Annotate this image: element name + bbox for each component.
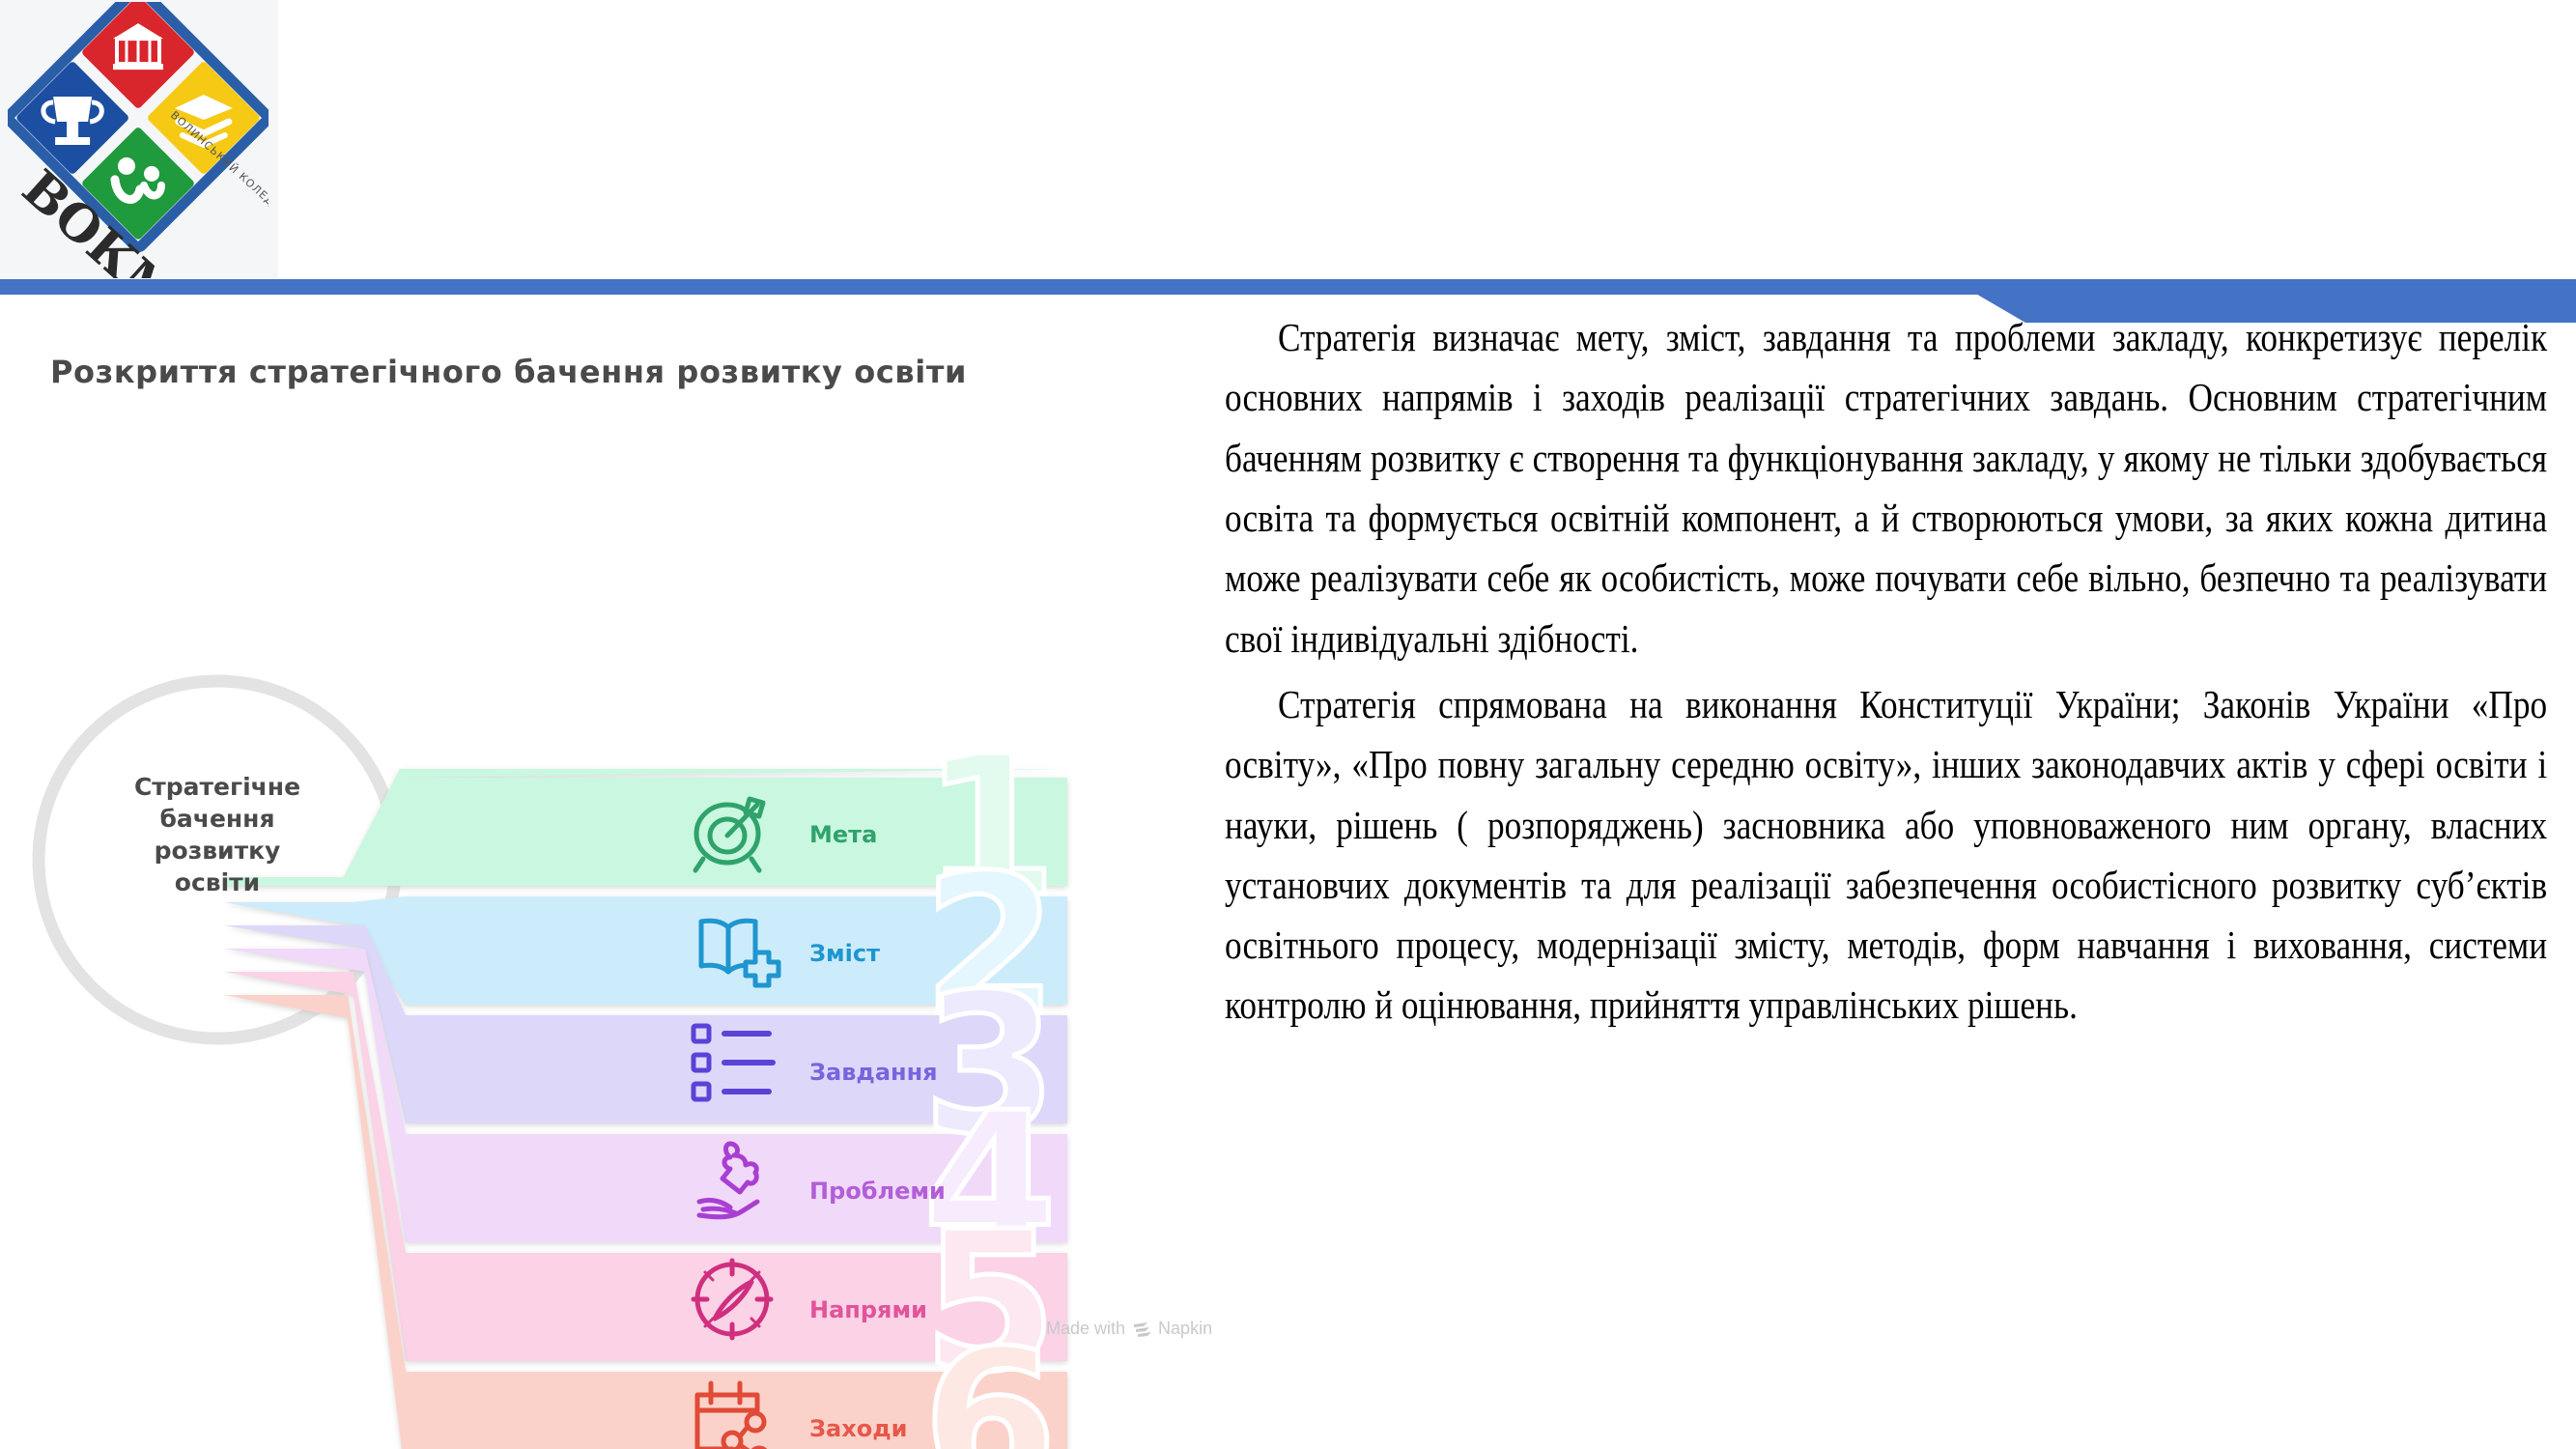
body-paragraph-1: Стратегія визначає мету, зміст, завдання… (1225, 307, 2547, 668)
ribbon-label-meta: Мета (809, 821, 877, 848)
hub-label-line-3: розвитку (58, 835, 377, 867)
slide-header: ВОКМС ВОЛИНСЬКИЙ КОЛЕДЖ МИСТЕЦТВ (0, 0, 2576, 290)
hub-label-line-2: бачення (58, 803, 377, 835)
ribbon-label-napryamy: Напрями (809, 1296, 927, 1323)
hub-label: Стратегічне бачення розвитку освіти (58, 771, 377, 898)
strategy-diagram: Розкриття стратегічного бачення розвитку… (0, 299, 1227, 1449)
vokms-logo: ВОКМС ВОЛИНСЬКИЙ КОЛЕДЖ МИСТЕЦТВ (8, 2, 269, 278)
body-paragraph-2: Стратегія спрямована на виконання Консти… (1225, 674, 2547, 1036)
body-text-column: Стратегія визначає мету, зміст, завдання… (1225, 307, 2547, 1036)
hub-label-line-4: освіти (58, 867, 377, 898)
ribbon-numbers: 1 2 3 4 5 6 (922, 715, 1057, 1449)
ribbon-number-6: 6 (922, 1309, 1057, 1449)
ribbon-label-zakhody: Заходи (809, 1415, 907, 1442)
ribbon-label-problemy: Проблеми (809, 1178, 946, 1205)
hub-label-line-1: Стратегічне (58, 771, 377, 803)
watermark-text: Made with (1046, 1319, 1125, 1339)
watermark-brand: Napkin (1158, 1319, 1212, 1339)
logo-panel: ВОКМС ВОЛИНСЬКИЙ КОЛЕДЖ МИСТЕЦТВ (0, 0, 278, 280)
ribbon-label-zmist: Зміст (809, 940, 880, 967)
napkin-watermark: Made with Napkin (1046, 1319, 1212, 1339)
ribbon-label-zavdannya: Завдання (809, 1059, 938, 1086)
napkin-logo-icon (1132, 1321, 1151, 1338)
